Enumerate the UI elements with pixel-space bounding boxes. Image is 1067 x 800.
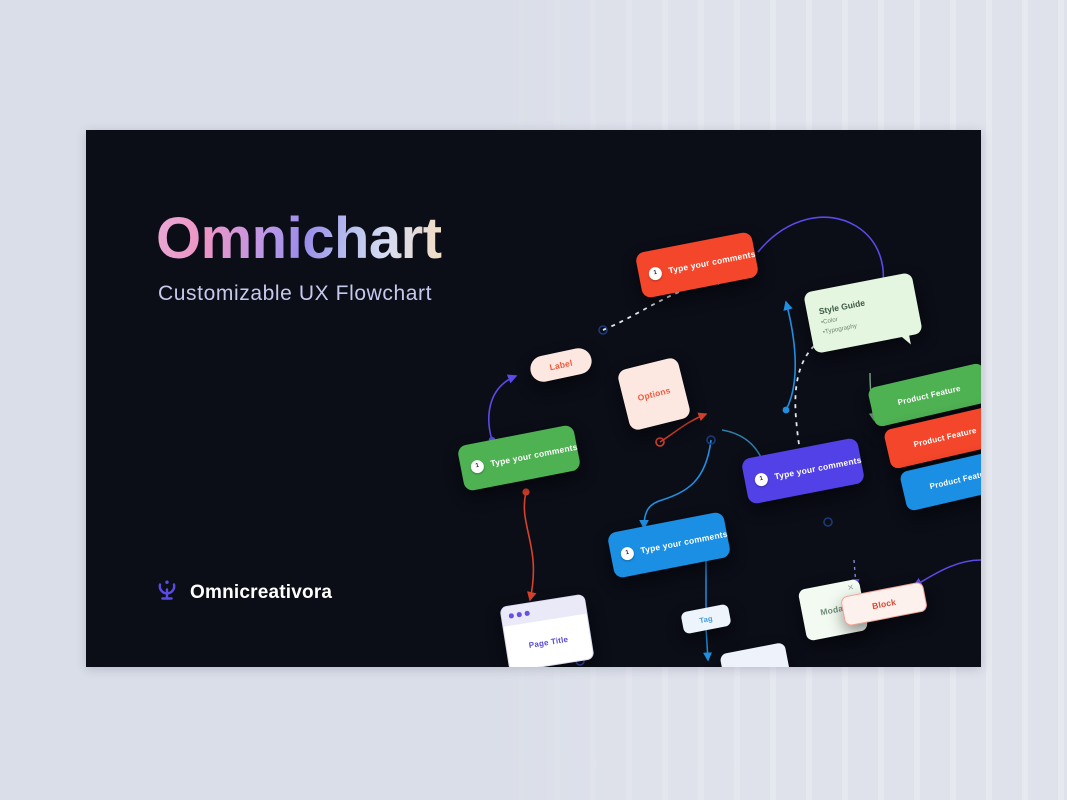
style-guide-title: Style Guide	[818, 298, 866, 317]
comment-badge: 1	[620, 545, 635, 560]
node-label: Product Feature	[913, 425, 978, 448]
callout-tail	[900, 334, 911, 347]
node-label: Label	[549, 358, 574, 373]
browser-dot-2	[516, 612, 521, 617]
hero-panel: 1 Type your comments Label Options Style…	[86, 130, 981, 667]
node-label: Type your comments	[774, 455, 863, 482]
comment-badge: 1	[470, 458, 485, 473]
close-icon[interactable]: ✕	[847, 584, 855, 593]
omni-ring-icon	[156, 578, 178, 607]
node-label: Product Feature	[929, 467, 981, 490]
node-label: Product Feature	[897, 383, 962, 406]
comment-badge: 1	[754, 471, 769, 486]
page-backdrop: 1 Type your comments Label Options Style…	[0, 0, 1067, 800]
style-guide-item-color: Color	[820, 316, 838, 326]
node-label: Type your comments	[640, 529, 729, 556]
browser-dot-1	[509, 613, 514, 618]
comment-badge: 1	[648, 265, 663, 280]
hero-text-block: Omnichart Customizable UX Flowchart	[156, 210, 442, 306]
node-label: Page Title	[528, 635, 569, 650]
node-label: Tag	[699, 613, 714, 624]
brand-name: Omnicreativora	[190, 582, 332, 604]
browser-dot-3	[524, 611, 529, 616]
node-label: Type your comments	[490, 442, 579, 469]
node-label: Options	[637, 385, 672, 403]
node-label: Block	[871, 597, 897, 611]
node-label: Type your comments	[668, 249, 757, 276]
page-title: Omnichart	[156, 210, 442, 268]
brand-lockup: Omnicreativora	[156, 578, 332, 607]
node-page-window[interactable]: Page Title	[499, 594, 594, 667]
page-subtitle: Customizable UX Flowchart	[158, 282, 442, 306]
